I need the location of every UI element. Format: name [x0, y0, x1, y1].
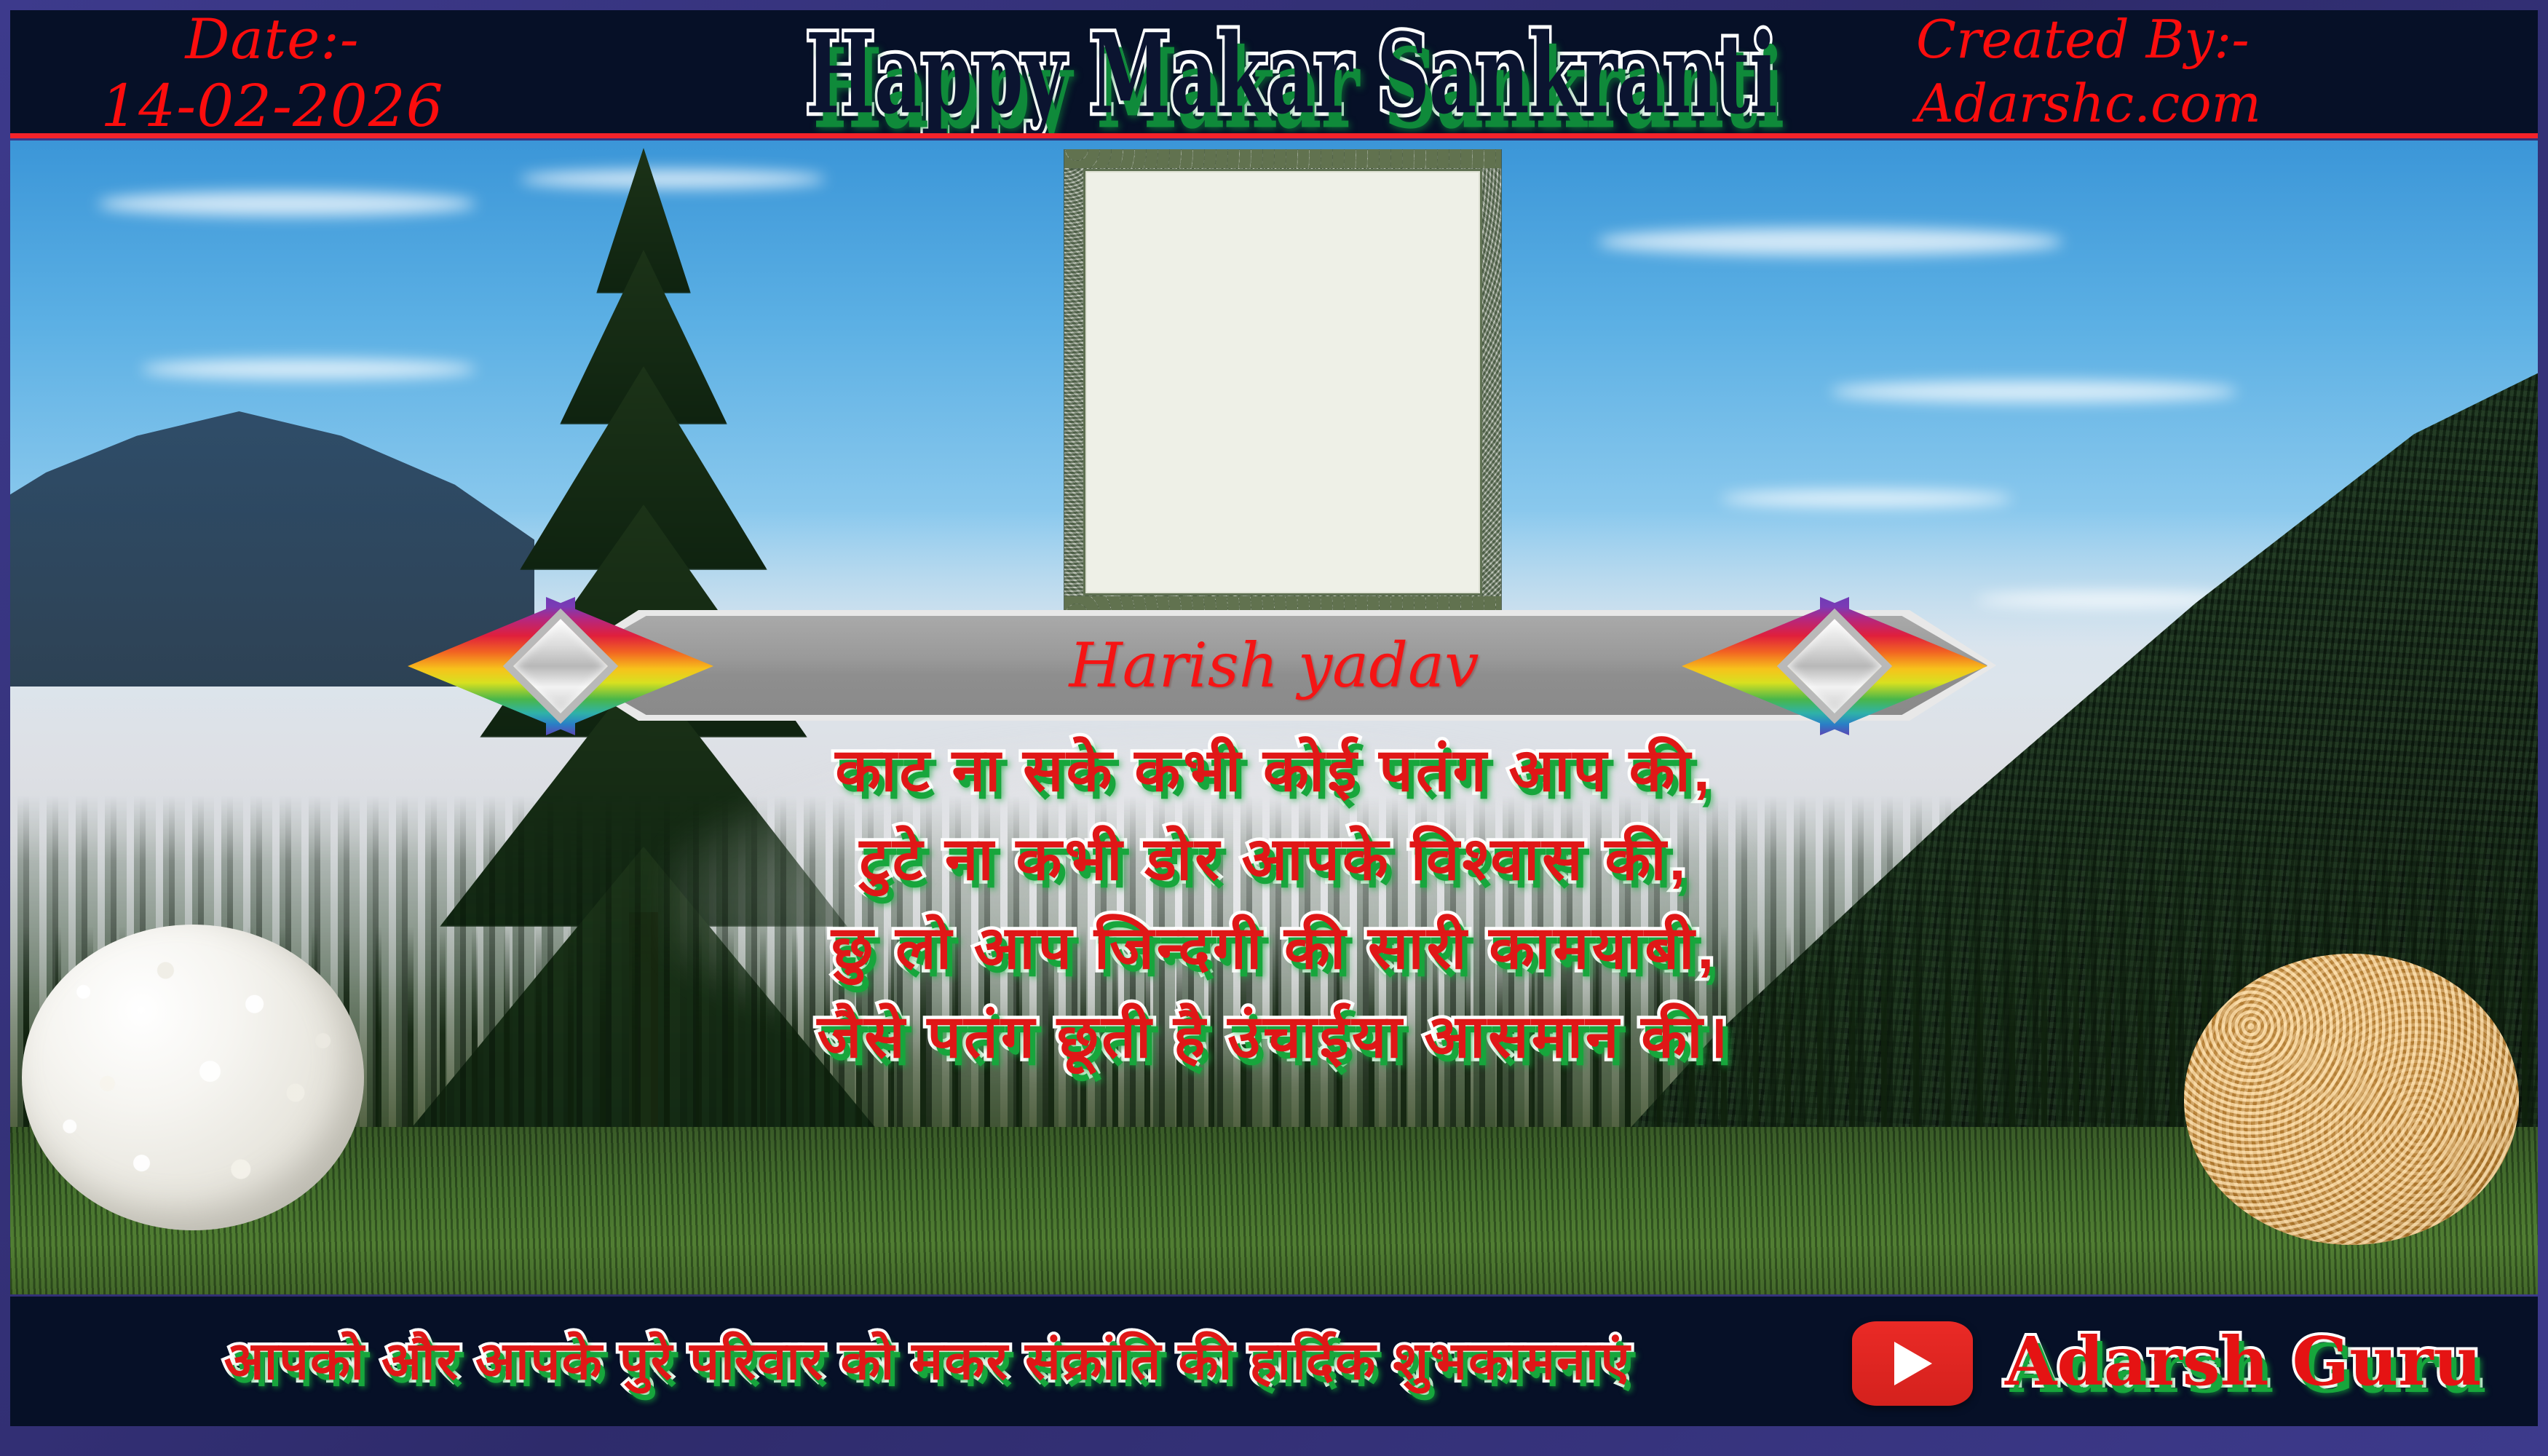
- rainbow-kite-icon-left: [408, 597, 713, 735]
- date-label: Date:-: [39, 10, 505, 73]
- meadow-grass-texture: [10, 1127, 2538, 1294]
- poem-block: काट ना सके कभी कोई पतंग आप की, टुटे ना क…: [10, 735, 2538, 1091]
- page-title: Happy Makar Sankranti: [724, 10, 1859, 138]
- golden-laddu-texture: [2184, 954, 2519, 1245]
- poem-line: टुटे ना कभी डोर आपके विश्वास की,: [10, 824, 2538, 895]
- date-block: Date:- 14-02-2026: [39, 10, 505, 138]
- cloud: [1597, 228, 2063, 256]
- poem-line: छु लो आप जिन्दगी की सारी कामयाबी,: [10, 913, 2538, 984]
- rainbow-kite-icon-right: [1682, 597, 1987, 735]
- play-triangle-icon: [1894, 1342, 1932, 1385]
- photo-frame[interactable]: [1064, 150, 1501, 614]
- credit-block: Created By:- Adarshc.com: [1916, 10, 2513, 135]
- cloud: [1721, 490, 2012, 507]
- greeting-card-canvas: Date:- 14-02-2026 Happy Makar Sankranti …: [0, 0, 2548, 1456]
- frame-scallop-top: [1064, 149, 1501, 168]
- header-bar: Date:- 14-02-2026 Happy Makar Sankranti …: [10, 10, 2538, 138]
- poem-line: काट ना सके कभी कोई पतंग आप की,: [10, 735, 2538, 807]
- white-sweet-texture: [22, 925, 364, 1230]
- credit-value: Adarshc.com: [1916, 71, 2513, 135]
- festival-wish-text: आपको और आपके पुरे परिवार को मकर संक्रांत…: [25, 1302, 1830, 1420]
- poem-line: जैसे पतंग छूती है उंचाईया आसमान की।: [10, 1002, 2538, 1073]
- footer-bar: आपको और आपके पुरे परिवार को मकर संक्रांत…: [10, 1297, 2538, 1426]
- photo-placeholder[interactable]: [1083, 169, 1482, 596]
- youtube-play-icon[interactable]: [1852, 1321, 1973, 1406]
- channel-name[interactable]: Adarsh Guru: [2005, 1304, 2538, 1419]
- page-title-text: Happy Makar Sankranti: [806, 15, 1777, 133]
- cloud: [1830, 381, 2238, 403]
- credit-label: Created By:-: [1916, 10, 2513, 71]
- date-value: 14-02-2026: [39, 73, 505, 138]
